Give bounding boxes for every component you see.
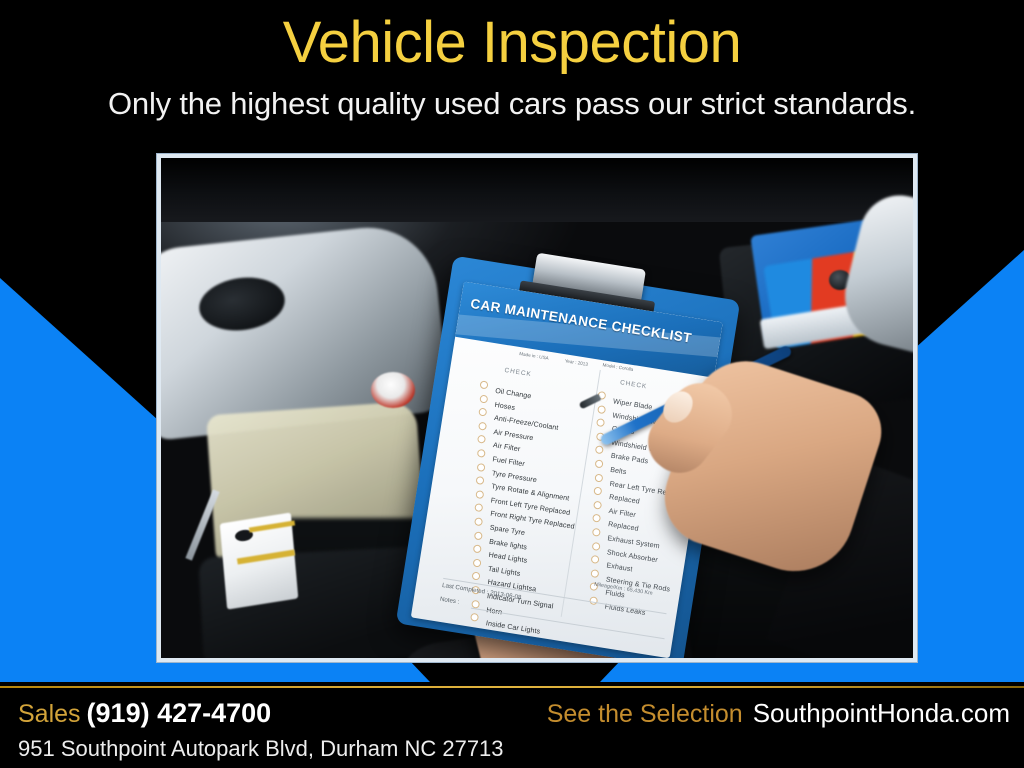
checkbox-circle-icon[interactable] xyxy=(473,531,482,540)
checkbox-circle-icon[interactable] xyxy=(472,558,481,567)
checkbox-circle-icon[interactable] xyxy=(477,435,486,444)
checkbox-circle-icon[interactable] xyxy=(476,476,485,485)
checkbox-circle-icon[interactable] xyxy=(475,490,484,499)
checkbox-circle-icon[interactable] xyxy=(591,555,600,564)
checkbox-circle-icon[interactable] xyxy=(470,613,479,622)
checkbox-circle-icon[interactable] xyxy=(474,517,483,526)
checkbox-circle-icon[interactable] xyxy=(479,394,488,403)
slide-canvas: Vehicle Inspection Only the highest qual… xyxy=(0,0,1024,768)
hood-shadow xyxy=(161,158,913,222)
checkbox-circle-icon[interactable] xyxy=(477,449,486,458)
checklist-notes-label: Notes : xyxy=(439,596,459,606)
checklist-meta-year: Year : 2013 xyxy=(564,358,588,367)
checkbox-circle-icon[interactable] xyxy=(472,572,481,581)
page-title: Vehicle Inspection xyxy=(0,12,1024,75)
sales-contact: Sales(919) 427-4700 xyxy=(18,700,271,727)
checkbox-circle-icon[interactable] xyxy=(475,503,484,512)
checkbox-circle-icon[interactable] xyxy=(476,462,485,471)
checkbox-circle-icon[interactable] xyxy=(479,380,488,389)
footer-gold-rule xyxy=(0,686,1024,688)
sales-label: Sales xyxy=(18,700,81,728)
checkbox-circle-icon[interactable] xyxy=(592,514,601,523)
checkbox-circle-icon[interactable] xyxy=(597,405,606,414)
checkbox-circle-icon[interactable] xyxy=(473,544,482,553)
inspection-photo: CAR MAINTENANCE CHECKLIST Made in : USA … xyxy=(161,158,913,658)
sales-phone-number[interactable]: (919) 427-4700 xyxy=(87,698,272,728)
checkbox-circle-icon[interactable] xyxy=(594,473,603,482)
checklist-meta-made-in: Made in : USA xyxy=(519,351,549,361)
checkbox-circle-icon[interactable] xyxy=(591,541,600,550)
black-notch-shape xyxy=(395,660,635,682)
blue-wedge-left xyxy=(0,270,180,682)
checkbox-circle-icon[interactable] xyxy=(592,528,601,537)
checkbox-circle-icon[interactable] xyxy=(590,569,599,578)
dealership-address: 951 Southpoint Autopark Blvd, Durham NC … xyxy=(18,736,504,762)
checklist-right-column-header: CHECK xyxy=(620,379,648,390)
fluid-cap-red xyxy=(371,372,415,408)
checkbox-circle-icon[interactable] xyxy=(593,500,602,509)
checkbox-circle-icon[interactable] xyxy=(478,408,487,417)
cta-selection: See the SelectionSouthpointHonda.com xyxy=(547,700,1010,727)
page-subtitle: Only the highest quality used cars pass … xyxy=(0,86,1024,122)
cta-label: See the Selection xyxy=(547,700,743,728)
checkbox-circle-icon[interactable] xyxy=(593,487,602,496)
checkbox-circle-icon[interactable] xyxy=(478,421,487,430)
header: Vehicle Inspection Only the highest qual… xyxy=(0,0,1024,140)
checklist-left-column-header: CHECK xyxy=(504,367,532,378)
footer: Sales(919) 427-4700 951 Southpoint Autop… xyxy=(0,682,1024,768)
photo-frame: CAR MAINTENANCE CHECKLIST Made in : USA … xyxy=(157,154,917,662)
website-link[interactable]: SouthpointHonda.com xyxy=(753,698,1010,728)
checkbox-circle-icon[interactable] xyxy=(595,459,604,468)
